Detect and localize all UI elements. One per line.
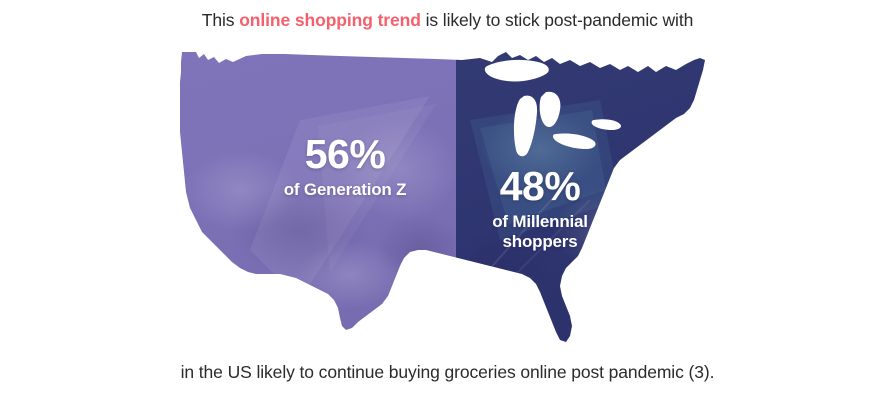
map-left-region	[0, 0, 464, 400]
us-map-fill	[0, 0, 895, 400]
caption: in the US likely to continue buying groc…	[0, 362, 895, 383]
us-map-icon	[0, 0, 895, 400]
infographic-container: This online shopping trend is likely to …	[0, 0, 895, 400]
us-map-stage: 56% of Generation Z 48% of Millennial sh…	[0, 0, 895, 400]
